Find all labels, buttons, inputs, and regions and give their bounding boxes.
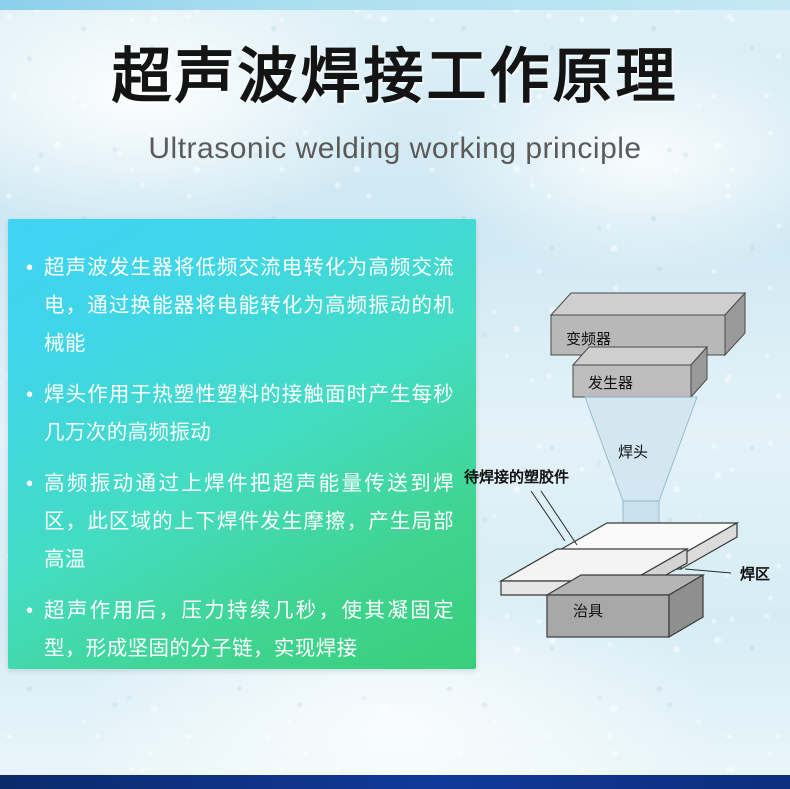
bullet-marker-icon: •	[26, 376, 44, 414]
list-item: • 高频振动通过上焊件把超声能量传送到焊区，此区域的上下焊件发生摩擦，产生局部高…	[26, 465, 454, 579]
label-plastic-parts: 待焊接的塑胶件	[464, 466, 569, 487]
bullet-panel: • 超声波发生器将低频交流电转化为高频交流电，通过换能器将电能转化为高频振动的机…	[8, 219, 476, 669]
bullet-marker-icon: •	[26, 249, 44, 287]
label-weld-zone: 焊区	[740, 563, 770, 584]
poster-canvas: 超声波焊接工作原理 Ultrasonic welding working pri…	[0, 0, 790, 789]
fixture-block	[547, 575, 703, 637]
bullet-marker-icon: •	[26, 592, 44, 630]
label-inverter: 变频器	[566, 328, 611, 349]
horn-cone	[585, 397, 697, 537]
list-item: • 超声作用后，压力持续几秒，使其凝固定型，形成坚固的分子链，实现焊接	[26, 592, 454, 668]
page-title-chinese: 超声波焊接工作原理	[0, 28, 790, 115]
bottom-accent-bar	[0, 775, 790, 789]
page-title-english: Ultrasonic welding working principle	[0, 132, 790, 166]
welding-machine-diagram: 变频器 发生器 焊头 待焊接的塑胶件 治具 焊区	[455, 255, 790, 655]
label-fixture: 治具	[573, 600, 603, 621]
list-item: • 焊头作用于热塑性塑料的接触面时产生每秒几万次的高频振动	[26, 376, 454, 452]
top-accent-bar	[0, 0, 790, 10]
bullet-text: 超声波发生器将低频交流电转化为高频交流电，通过换能器将电能转化为高频振动的机械能	[44, 249, 454, 363]
label-horn: 焊头	[618, 441, 648, 462]
label-generator: 发生器	[588, 372, 633, 393]
bullet-marker-icon: •	[26, 465, 44, 503]
bullet-text: 超声作用后，压力持续几秒，使其凝固定型，形成坚固的分子链，实现焊接	[44, 592, 454, 668]
bullet-text: 高频振动通过上焊件把超声能量传送到焊区，此区域的上下焊件发生摩擦，产生局部高温	[44, 465, 454, 579]
bullet-text: 焊头作用于热塑性塑料的接触面时产生每秒几万次的高频振动	[44, 376, 454, 452]
list-item: • 超声波发生器将低频交流电转化为高频交流电，通过换能器将电能转化为高频振动的机…	[26, 249, 454, 363]
